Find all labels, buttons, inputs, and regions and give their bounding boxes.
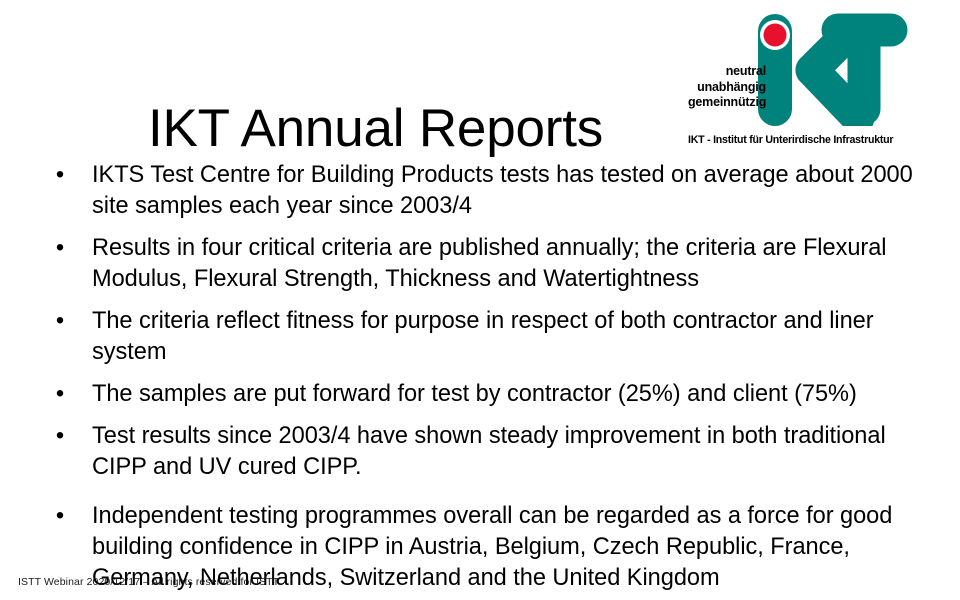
logo-tagline: IKT - Institut für Unterirdische Infrast… [688, 134, 893, 146]
bullet-item: • Test results since 2003/4 have shown s… [44, 421, 924, 483]
bullet-list: • IKTS Test Centre for Building Products… [44, 160, 924, 594]
bullet-text: Results in four critical criteria are pu… [92, 233, 924, 295]
bullet-marker-icon: • [53, 306, 67, 337]
logo-claim-gemeinnuetzig: gemeinnützig [688, 95, 766, 111]
bullet-text: The samples are put forward for test by … [92, 379, 924, 410]
logo-claim-neutral: neutral [688, 64, 766, 80]
slide-footer: ISTT Webinar 2020/12/17 – All rights res… [18, 576, 279, 588]
logo-claim-unabhaengig: unabhängig [688, 80, 766, 96]
bullet-marker-icon: • [53, 233, 67, 264]
bullet-marker-icon: • [53, 379, 67, 410]
bullet-item: • IKTS Test Centre for Building Products… [44, 160, 924, 222]
bullet-item: • The criteria reflect fitness for purpo… [44, 306, 924, 368]
bullet-marker-icon: • [53, 160, 67, 191]
bullet-text: Test results since 2003/4 have shown ste… [92, 421, 924, 483]
bullet-text: The criteria reflect fitness for purpose… [92, 306, 924, 368]
slide-title: IKT Annual Reports [148, 98, 603, 160]
bullet-item: • Results in four critical criteria are … [44, 233, 924, 295]
bullet-marker-icon: • [53, 501, 67, 532]
slide-canvas: neutral unabhängig gemeinnützig IKT - In… [0, 0, 960, 600]
bullet-item: • The samples are put forward for test b… [44, 379, 924, 410]
bullet-text: IKTS Test Centre for Building Products t… [92, 160, 924, 222]
ikt-logo: neutral unabhängig gemeinnützig IKT - In… [688, 8, 908, 144]
bullet-marker-icon: • [53, 421, 67, 452]
logo-claims: neutral unabhängig gemeinnützig [688, 64, 766, 111]
